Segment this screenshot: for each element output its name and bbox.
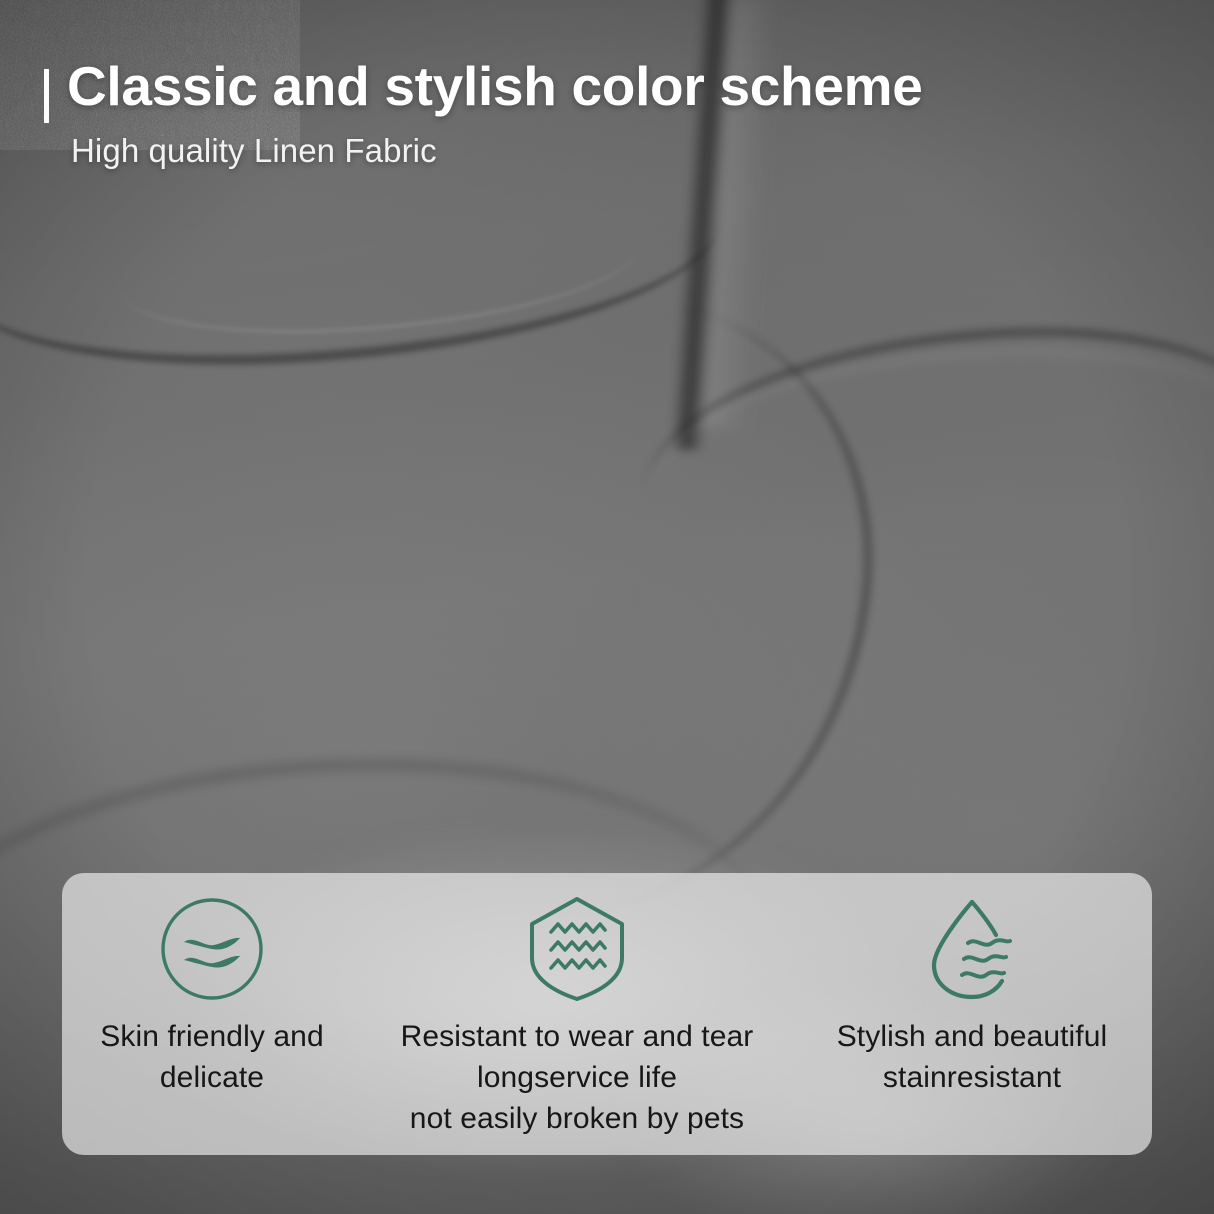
feature-item-skin-friendly: Skin friendly and delicate (62, 873, 362, 1155)
product-feature-image: Classic and stylish color scheme High qu… (0, 0, 1214, 1214)
water-droplet-waves-icon (920, 897, 1024, 1001)
circle-waves-icon (160, 897, 264, 1001)
feature-label: Stylish and beautiful stainresistant (837, 1017, 1108, 1099)
page-title: Classic and stylish color scheme (67, 58, 923, 114)
feature-panel: Skin friendly and delicate Resistant to … (62, 873, 1152, 1155)
feature-label: Resistant to wear and tear longservice l… (401, 1017, 754, 1139)
title-accent-bar (44, 69, 49, 123)
feature-item-wear-resistant: Resistant to wear and tear longservice l… (362, 873, 792, 1155)
page-subtitle: High quality Linen Fabric (71, 132, 1214, 170)
feature-item-stain-resistant: Stylish and beautiful stainresistant (792, 873, 1152, 1155)
title-row: Classic and stylish color scheme (44, 58, 1214, 123)
feature-label: Skin friendly and delicate (100, 1017, 324, 1099)
shield-zigzag-icon (525, 897, 629, 1001)
header: Classic and stylish color scheme High qu… (0, 0, 1214, 170)
